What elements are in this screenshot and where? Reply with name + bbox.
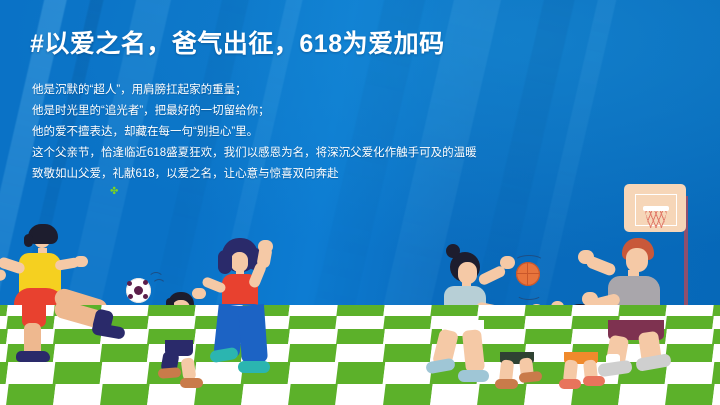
court-cell [712,305,720,316]
court-cell [571,305,619,316]
body-line-2: 他是时光里的“追光者”，把最好的一切留给你； [32,101,477,122]
court-cell [382,384,432,405]
court-cell [383,305,431,316]
body-line-3: 他的爱不擅表达，却藏在每一句“别担心”里。 [32,122,477,143]
court-cell [336,305,384,316]
court-cell [383,316,432,329]
court-cell [618,305,666,316]
court-cell [382,362,432,384]
court-cell [382,344,431,362]
page-title: #以爱之名，爸气出征，618为爱加码 [30,24,445,60]
court-cell [335,344,384,362]
court-cell [148,305,196,316]
court-cell [665,305,713,316]
court-cell [147,316,196,329]
clover-icon: ✤ [110,187,119,196]
legs-girl-dark-top [494,352,558,405]
body-copy: 他是沉默的“超人”，用肩膀扛起家的重量； 他是时光里的“追光者”，把最好的一切留… [32,80,477,185]
legs-man-catching [600,320,720,405]
body-line-4: 这个父亲节，恰逢临近618盛夏狂欢，我们以感恩为名，将深沉父爱化作触手可及的温暖 [32,143,477,164]
motion-line-soccer-2 [152,279,166,293]
court-cell [335,362,385,384]
legs-boy-running [160,340,232,405]
legs-man-kicking [0,305,140,405]
court-cell [524,329,573,344]
body-line-1: 他是沉默的“超人”，用肩膀扛起家的重量； [32,80,477,101]
body-line-5: 致敬如山父爱，礼献618，以爱之名，让心意与惊喜双向奔赴 [32,164,477,185]
court-cell [524,305,572,316]
court-cell [477,305,525,316]
court-cell [430,305,478,316]
hoop-rim [643,206,669,211]
court-cell [335,384,385,405]
court-cell [336,329,385,344]
motion-line-basket [514,255,544,269]
court-cell [336,316,385,329]
poster-canvas: #以爱之名，爸气出征，618为爱加码 他是沉默的“超人”，用肩膀扛起家的重量； … [0,0,720,405]
court-cell [383,329,432,344]
court-cell [524,316,573,329]
basketball-hoop-icon [624,184,686,232]
